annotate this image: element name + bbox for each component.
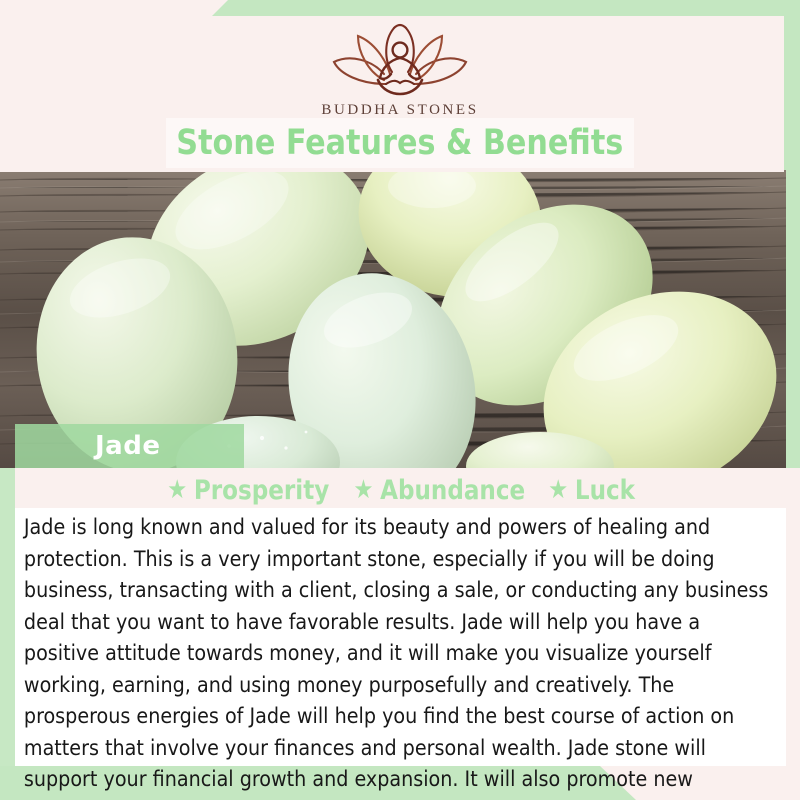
star-icon: ★ <box>354 477 374 503</box>
keyword-label: Abundance <box>380 475 525 506</box>
title-banner: Stone Features & Benefits <box>166 118 634 168</box>
stone-name-band: Jade <box>15 424 244 468</box>
brand-logo: BUDDHA STONES <box>0 22 800 119</box>
keyword-item-2: ★ Abundance <box>354 475 526 506</box>
decorative-right-band <box>784 0 800 468</box>
lotus-meditation-icon <box>324 22 476 100</box>
keyword-item-1: ★ Prosperity <box>167 475 329 506</box>
stone-name: Jade <box>95 431 160 461</box>
page-title: Stone Features & Benefits <box>176 123 623 163</box>
brand-name: BUDDHA STONES <box>0 102 800 119</box>
infographic-page: Jade <box>0 0 800 800</box>
keyword-item-3: ★ Luck <box>548 475 635 506</box>
star-icon: ★ <box>167 477 187 503</box>
description-panel: Jade is long known and valued for its be… <box>15 508 786 766</box>
keyword-label: Luck <box>575 475 635 506</box>
keyword-label: Prosperity <box>194 475 329 506</box>
star-icon: ★ <box>548 477 568 503</box>
keyword-row: ★ Prosperity ★ Abundance ★ Luck <box>15 468 785 512</box>
stone-description: Jade is long known and valued for its be… <box>15 512 778 800</box>
decorative-left-band-lower <box>0 468 15 768</box>
